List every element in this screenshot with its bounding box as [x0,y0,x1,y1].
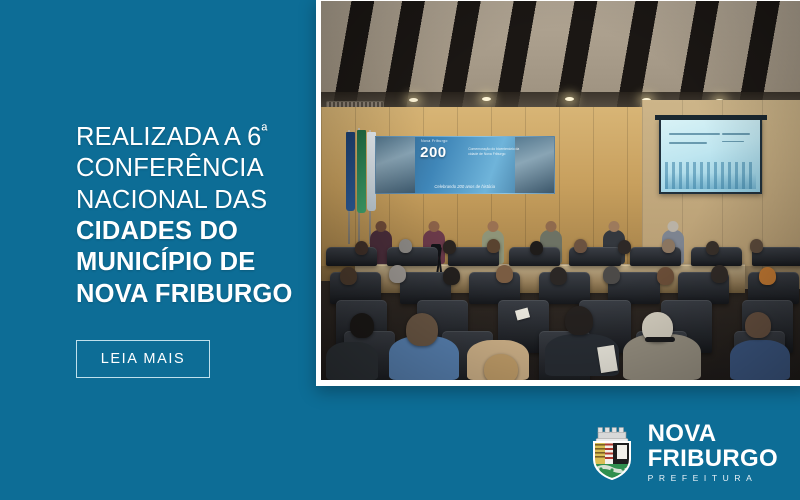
banner-number: 200 [420,144,447,161]
logo-line-3: PREFEITURA [648,474,778,483]
headline-line-5: MUNICÍPIO DE [76,247,320,278]
flag [357,130,366,213]
banner-text-column: REALIZADA A 6ª CONFERÊNCIA NACIONAL DAS … [0,0,320,500]
headline-line-4: CIDADES DO [76,216,320,247]
prefeitura-logo[interactable]: NOVA FRIBURGO PREFEITURA [587,422,778,483]
screen-graphic [665,162,755,189]
headline-line-3: NACIONAL DAS [76,185,320,216]
logo-wordmark: NOVA FRIBURGO PREFEITURA [648,422,778,483]
downlight-icon [409,98,418,102]
headline-line-6: NOVA FRIBURGO [76,279,320,310]
promo-banner: Nova Friburgo 200 Comemoração do bicente… [0,0,800,500]
screen-top-bar [655,115,767,121]
conference-photo-frame: Nova Friburgo 200 Comemoração do bicente… [316,0,800,386]
banner-photo-right [515,137,554,194]
glasses-icon [645,337,675,342]
headline-line-2: CONFERÊNCIA [76,153,320,184]
projection-screen [659,118,761,194]
banner-top-text: Nova Friburgo [421,139,448,143]
headline-line-1: REALIZADA A 6ª [76,122,320,153]
page-title: REALIZADA A 6ª CONFERÊNCIA NACIONAL DAS … [76,122,320,311]
stage-banner-200: Nova Friburgo 200 Comemoração do bicente… [375,136,555,195]
banner-foot-text: Celebrando 200 anos de história [418,184,511,189]
conference-photo: Nova Friburgo 200 Comemoração do bicente… [321,1,800,380]
logo-line-1: NOVA [648,422,778,446]
banner-body-text: Comemoração do bicentenário da cidade de… [468,147,521,158]
handout-paper [597,345,618,373]
banner-photo-left [376,137,415,194]
flag [346,132,355,212]
logo-line-2: FRIBURGO [648,447,778,471]
read-more-button[interactable]: LEIA MAIS [76,340,210,378]
downlight-icon [482,97,491,101]
coat-of-arms-icon [587,423,637,481]
